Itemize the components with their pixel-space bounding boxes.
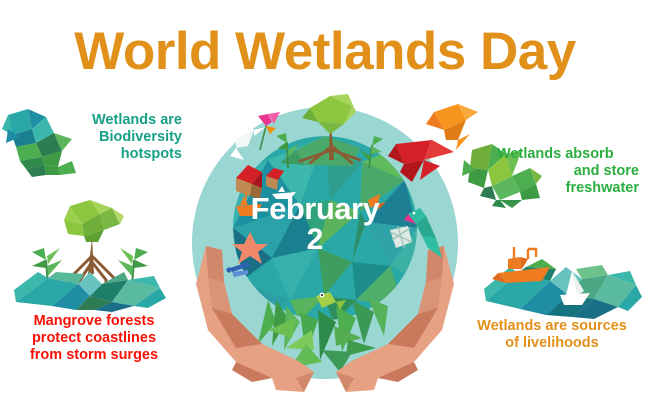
caption-mangrove: Mangrove forests protect coastlines from… bbox=[8, 313, 180, 364]
caption-livelihoods: Wetlands are sources of livelihoods bbox=[462, 318, 642, 352]
caption-biodiversity-line-2: Biodiversity bbox=[99, 129, 182, 145]
caption-mangrove-line-2: protect coastlines bbox=[32, 330, 156, 346]
caption-freshwater-line-1: Wetlands absorb bbox=[497, 146, 639, 163]
caption-livelihoods-line-1: Wetlands are sources bbox=[477, 318, 627, 334]
caption-biodiversity-line-3: hotspots bbox=[121, 146, 182, 162]
poster-canvas: World Wetlands Day bbox=[0, 0, 650, 418]
caption-biodiversity: Wetlands are Biodiversity hotspots bbox=[56, 112, 182, 163]
caption-biodiversity-line-1: Wetlands are bbox=[92, 112, 182, 128]
caption-freshwater: Wetlands absorb and store freshwater bbox=[497, 146, 639, 197]
caption-freshwater-line-2: and store bbox=[574, 163, 639, 179]
fishing-boat-island-icon bbox=[484, 243, 644, 328]
caption-mangrove-line-1: Mangrove forests bbox=[34, 313, 155, 329]
mangrove-island-icon bbox=[8, 198, 173, 313]
caption-mangrove-line-3: from storm surges bbox=[30, 347, 158, 363]
caption-livelihoods-line-2: of livelihoods bbox=[505, 335, 598, 351]
caption-freshwater-line-3: freshwater bbox=[566, 180, 639, 196]
